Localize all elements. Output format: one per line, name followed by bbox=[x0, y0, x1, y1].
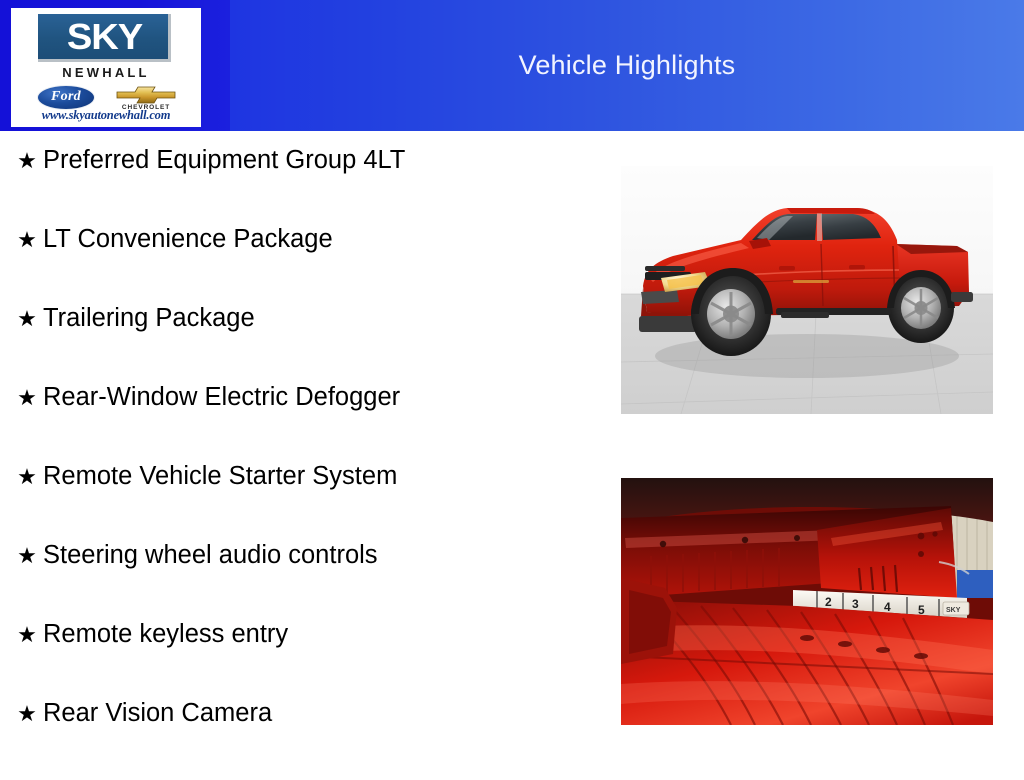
ford-wordmark: Ford bbox=[38, 86, 94, 109]
truck-bed-photo[interactable]: 2 3 4 5 SKY bbox=[621, 478, 993, 725]
list-item: ★ Steering wheel audio controls bbox=[0, 543, 600, 622]
ford-oval-icon: Ford bbox=[37, 85, 95, 110]
chevrolet-bowtie-icon bbox=[115, 84, 177, 104]
sky-logo-plate: SKY bbox=[38, 14, 171, 62]
page-title: Vehicle Highlights bbox=[230, 0, 1024, 131]
header-banner: SKY NEWHALL Ford bbox=[0, 0, 1024, 131]
star-icon: ★ bbox=[11, 150, 43, 172]
svg-text:3: 3 bbox=[852, 597, 859, 611]
vehicle-exterior-photo[interactable] bbox=[621, 166, 993, 414]
star-icon: ★ bbox=[11, 545, 43, 567]
highlight-label: Remote Vehicle Starter System bbox=[43, 464, 397, 490]
star-icon: ★ bbox=[11, 229, 43, 251]
list-item: ★ Rear Vision Camera bbox=[0, 701, 600, 780]
highlight-label: Remote keyless entry bbox=[43, 622, 288, 648]
star-icon: ★ bbox=[11, 624, 43, 646]
list-item: ★ Preferred Equipment Group 4LT bbox=[0, 148, 600, 227]
list-item: ★ Remote Vehicle Starter System bbox=[0, 464, 600, 543]
list-item: ★ Trailering Package bbox=[0, 306, 600, 385]
sky-wordmark: SKY bbox=[34, 14, 175, 59]
star-icon: ★ bbox=[11, 466, 43, 488]
svg-text:SKY: SKY bbox=[946, 607, 961, 614]
svg-text:2: 2 bbox=[825, 595, 832, 609]
vehicle-highlights-list: ★ Preferred Equipment Group 4LT ★ LT Con… bbox=[0, 148, 600, 780]
dealer-location-label: NEWHALL bbox=[11, 65, 201, 80]
highlight-label: Trailering Package bbox=[43, 306, 255, 332]
dealer-logo[interactable]: SKY NEWHALL Ford bbox=[11, 8, 201, 127]
highlight-label: Preferred Equipment Group 4LT bbox=[43, 148, 405, 174]
svg-text:4: 4 bbox=[884, 600, 891, 614]
highlight-label: Steering wheel audio controls bbox=[43, 543, 378, 569]
list-item: ★ Remote keyless entry bbox=[0, 622, 600, 701]
star-icon: ★ bbox=[11, 703, 43, 725]
highlight-label: Rear Vision Camera bbox=[43, 701, 272, 727]
highlight-label: LT Convenience Package bbox=[43, 227, 333, 253]
star-icon: ★ bbox=[11, 308, 43, 330]
list-item: ★ LT Convenience Package bbox=[0, 227, 600, 306]
list-item: ★ Rear-Window Electric Defogger bbox=[0, 385, 600, 464]
dealer-website-url[interactable]: www.skyautonewhall.com bbox=[11, 108, 201, 123]
star-icon: ★ bbox=[11, 387, 43, 409]
highlight-label: Rear-Window Electric Defogger bbox=[43, 385, 400, 411]
